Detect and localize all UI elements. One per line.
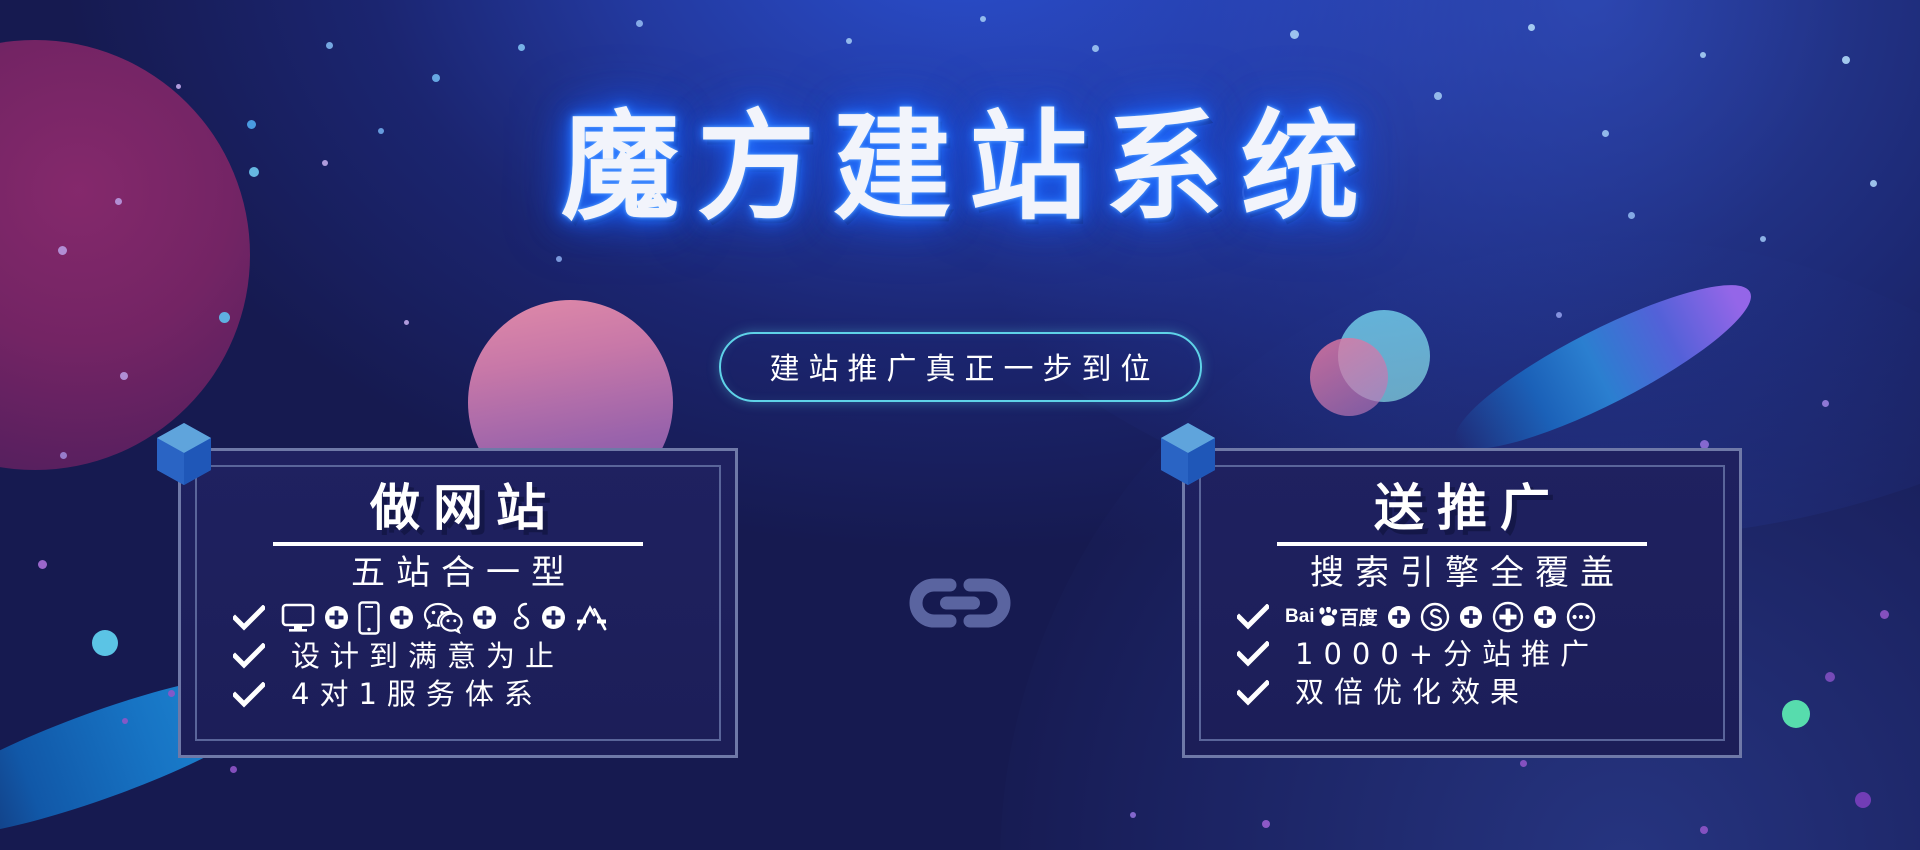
douyin-icon bbox=[506, 601, 532, 635]
feature-1000-sites: 1000+分站推广 bbox=[1219, 638, 1705, 671]
feature-label: 设计到满意为止 bbox=[281, 640, 564, 673]
star-dot bbox=[1434, 92, 1442, 100]
plus-icon bbox=[472, 605, 497, 630]
panel-inner-left: 做网站 五站合一型 bbox=[195, 465, 721, 741]
star-dot bbox=[556, 256, 562, 262]
star-dot bbox=[404, 320, 409, 325]
plus-icon bbox=[1533, 605, 1557, 629]
feature-list-left: 设计到满意为止 4对1服务体系 bbox=[215, 601, 701, 712]
subtitle-pill: 建站推广真正一步到位 bbox=[719, 332, 1202, 402]
baidu-icon: Bai 百度 bbox=[1285, 603, 1378, 630]
desktop-icon bbox=[281, 603, 315, 633]
star-dot bbox=[1092, 45, 1099, 52]
plus-icon bbox=[541, 605, 566, 630]
star-dot bbox=[1528, 24, 1535, 31]
subtitle-wrapper: 建站推广真正一步到位 bbox=[0, 332, 1920, 402]
check-icon bbox=[1237, 641, 1269, 667]
star-dot bbox=[846, 38, 852, 44]
more-icon bbox=[1566, 602, 1596, 632]
star-dot bbox=[1760, 236, 1766, 242]
platform-icon-row bbox=[281, 601, 609, 635]
star-dot bbox=[518, 44, 525, 51]
plus-icon bbox=[324, 605, 349, 630]
panel-divider bbox=[1277, 542, 1647, 546]
panel-subtitle: 五站合一型 bbox=[340, 552, 576, 595]
plus-icon bbox=[1387, 605, 1411, 629]
panel-subtitle: 搜索引擎全覆盖 bbox=[1299, 552, 1625, 595]
baidu-chinese: 百度 bbox=[1340, 603, 1378, 630]
star-dot bbox=[636, 20, 643, 27]
search-engine-icon-row: Bai 百度 bbox=[1285, 601, 1596, 633]
feature-design-until-satisfied: 设计到满意为止 bbox=[215, 640, 701, 673]
check-icon bbox=[233, 682, 265, 708]
feature-double-optimization: 双倍优化效果 bbox=[1219, 676, 1705, 709]
feature-search-engine-icons: Bai 百度 bbox=[1219, 601, 1705, 633]
check-icon bbox=[233, 643, 265, 669]
page-title: 魔方建站系统 bbox=[0, 104, 1920, 231]
star-dot bbox=[219, 312, 230, 323]
gem-cube-icon bbox=[153, 421, 215, 491]
check-icon bbox=[233, 605, 265, 631]
star-dot bbox=[1130, 812, 1136, 818]
star-dot bbox=[1842, 56, 1850, 64]
star-dot bbox=[230, 766, 237, 773]
feature-platform-icons bbox=[215, 601, 701, 635]
plus-icon bbox=[389, 605, 414, 630]
panel-build-website[interactable]: 做网站 五站合一型 bbox=[178, 448, 738, 758]
panel-title: 做网站 bbox=[357, 483, 559, 533]
star-dot bbox=[432, 74, 440, 82]
wechat-icon bbox=[423, 602, 463, 634]
plus-icon bbox=[1459, 605, 1483, 629]
star-dot bbox=[1700, 52, 1706, 58]
panel-inner-right: 送推广 搜索引擎全覆盖 Bai bbox=[1199, 465, 1725, 741]
star-dot bbox=[1700, 826, 1708, 834]
feature-label: 双倍优化效果 bbox=[1285, 676, 1529, 709]
feature-label: 1000+分站推广 bbox=[1285, 638, 1599, 671]
feature-label: 4对1服务体系 bbox=[281, 678, 543, 711]
star-dot bbox=[1262, 820, 1270, 828]
panel-divider bbox=[273, 542, 643, 546]
baidu-latin: Bai bbox=[1285, 606, 1315, 628]
feature-service-team: 4对1服务体系 bbox=[215, 678, 701, 711]
feature-list-right: Bai 百度 bbox=[1219, 601, 1705, 710]
star-dot bbox=[1855, 792, 1871, 808]
check-icon bbox=[1237, 680, 1269, 706]
sogou-icon bbox=[1420, 602, 1450, 632]
star-dot bbox=[1290, 30, 1299, 39]
star-dot bbox=[58, 246, 67, 255]
panel-title: 送推广 bbox=[1361, 483, 1563, 533]
link-chain-icon bbox=[906, 572, 1014, 634]
panels-row: 做网站 五站合一型 bbox=[0, 448, 1920, 758]
baidu-paw-icon bbox=[1317, 607, 1339, 627]
star-dot bbox=[326, 42, 333, 49]
promo-banner: 魔方建站系统 建站推广真正一步到位 做网站 五站合一型 bbox=[0, 0, 1920, 850]
360-icon bbox=[1492, 601, 1524, 633]
appstore-icon bbox=[575, 603, 609, 633]
gem-cube-icon bbox=[1157, 421, 1219, 491]
check-icon bbox=[1237, 604, 1269, 630]
star-dot bbox=[176, 84, 181, 89]
star-dot bbox=[1520, 760, 1527, 767]
star-dot bbox=[980, 16, 986, 22]
panel-free-promotion[interactable]: 送推广 搜索引擎全覆盖 Bai bbox=[1182, 448, 1742, 758]
mobile-icon bbox=[358, 601, 380, 635]
star-dot bbox=[1556, 312, 1562, 318]
